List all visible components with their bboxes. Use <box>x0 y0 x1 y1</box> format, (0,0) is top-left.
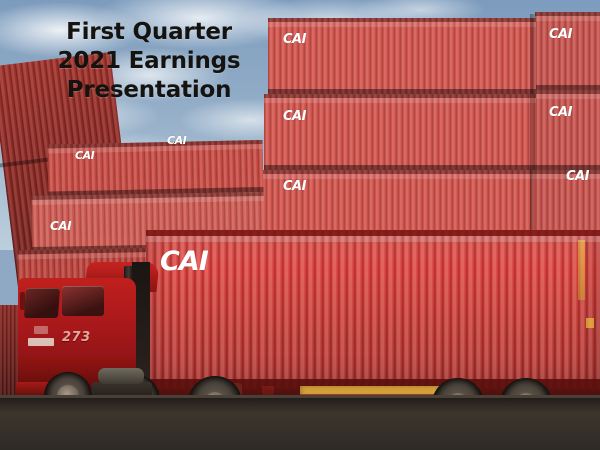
truck-fuel-tank <box>98 368 144 384</box>
container-highlight <box>264 98 536 103</box>
title-line-1: First Quarter <box>24 18 274 47</box>
container-decal-square <box>586 318 594 328</box>
title-line-2: 2021 Earnings <box>24 47 274 76</box>
truck-mirror <box>20 292 25 310</box>
container-highlight <box>146 236 600 242</box>
truck-windshield <box>24 288 60 318</box>
cai-logo-left-2: CAI <box>50 220 71 232</box>
cai-logo-left-top: CAI <box>167 135 186 146</box>
cai-logo-right-2: CAI <box>549 106 572 119</box>
truck-side-window <box>62 286 104 316</box>
container-right-1 <box>535 12 600 90</box>
truck-cab-number: 273 <box>62 330 91 345</box>
container-highlight <box>268 22 536 27</box>
ground-shadow <box>0 398 600 414</box>
cai-logo-trailer: CAI <box>160 248 208 275</box>
trailer-container <box>146 230 600 388</box>
title-line-3: Presentation <box>24 76 274 105</box>
cai-logo-right-3: CAI <box>566 170 589 183</box>
cai-logo-right-1: CAI <box>549 28 572 41</box>
cai-logo-left-1: CAI <box>75 150 94 161</box>
truck-door-placard <box>28 338 54 346</box>
cai-logo-center-2: CAI <box>283 110 306 123</box>
title-slide: CAI CAI CAI CAI CAI CAI CAI CA <box>0 0 600 450</box>
container-center-1 <box>268 18 536 94</box>
truck-door-label <box>34 326 48 334</box>
container-center-2 <box>264 94 536 170</box>
container-highlight <box>535 94 600 99</box>
container-highlight <box>18 252 158 259</box>
container-highlight <box>535 16 600 21</box>
stack-seam <box>530 14 537 248</box>
cai-logo-center-3: CAI <box>283 180 306 193</box>
page-title: First Quarter 2021 Earnings Presentation <box>24 18 274 105</box>
container-right-2 <box>535 90 600 170</box>
container-decal-strip <box>578 240 585 300</box>
cai-logo-center-1: CAI <box>283 33 306 46</box>
